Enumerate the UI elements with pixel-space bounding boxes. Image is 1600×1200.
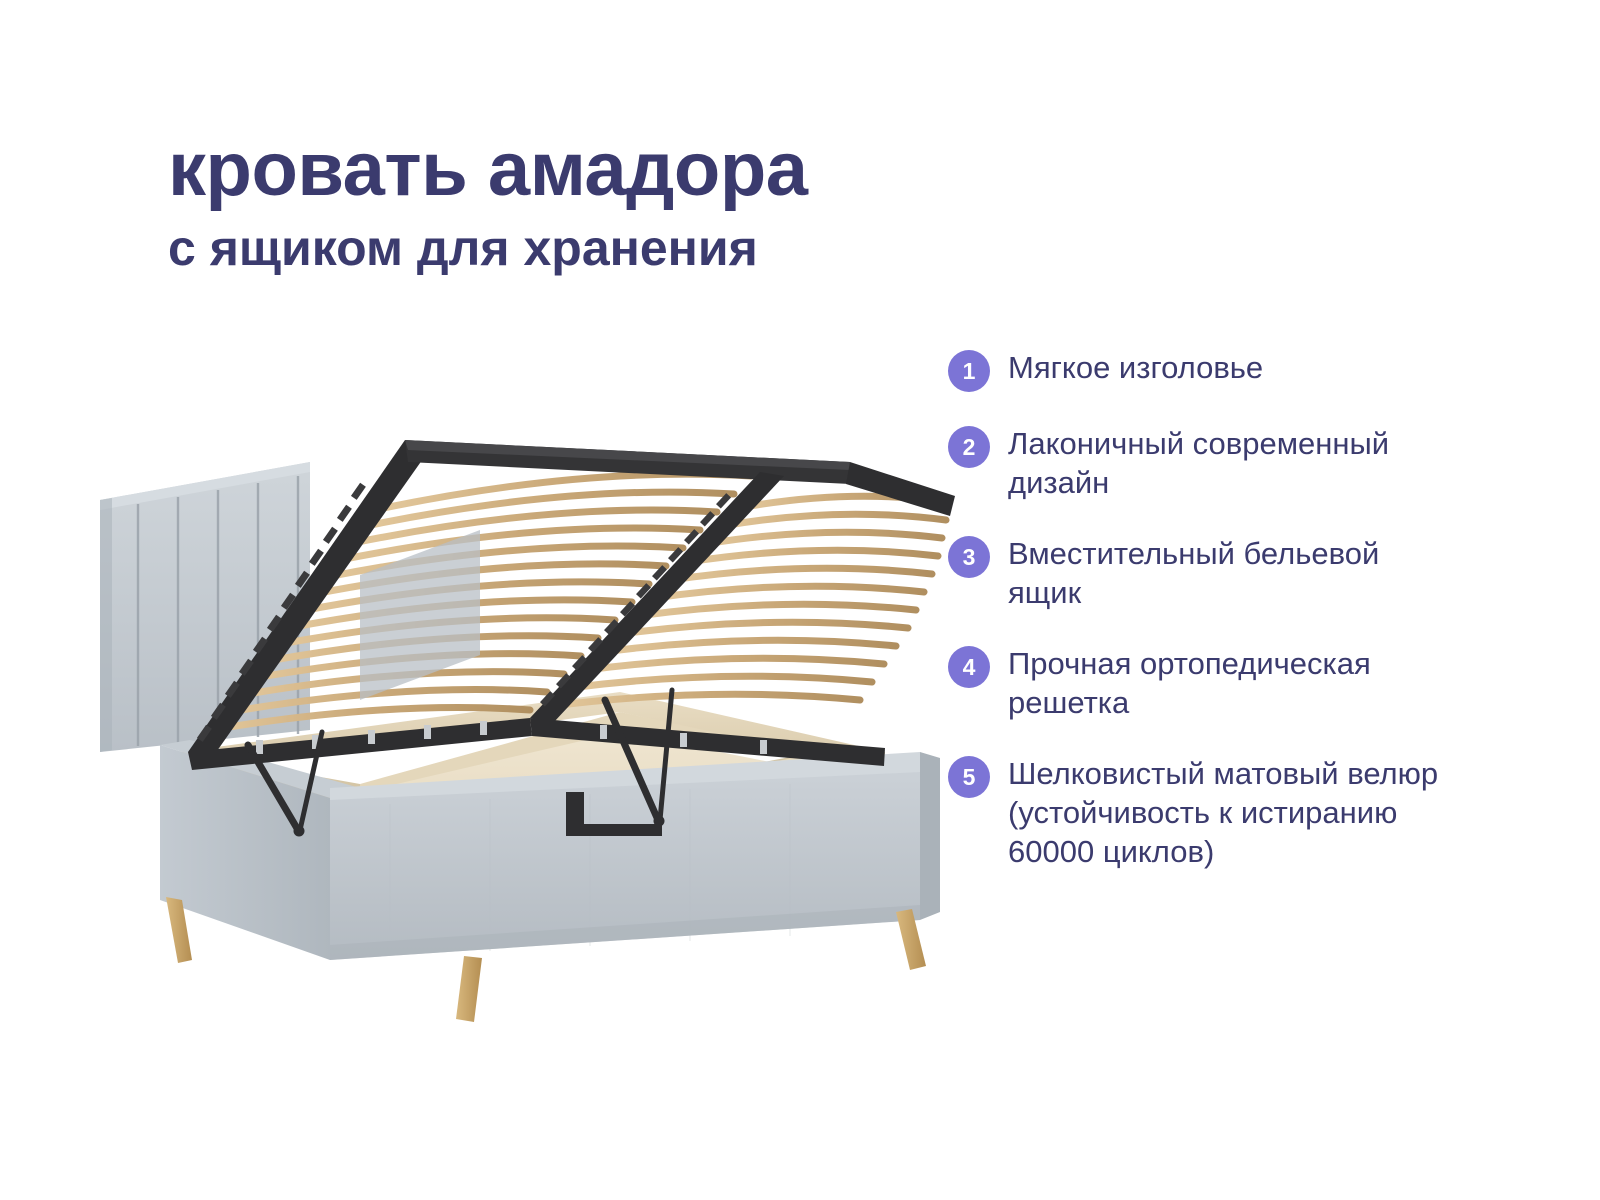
list-item: 5 Шелковистый матовый велюр (устойчивост…	[948, 754, 1468, 871]
list-item: 1 Мягкое изголовье	[948, 348, 1468, 392]
list-item: 4 Прочная ортопедическая решетка	[948, 644, 1468, 722]
feature-label: Шелковистый матовый велюр (устойчивость …	[1008, 754, 1460, 871]
leg-front-center	[456, 956, 482, 1022]
feature-number-badge: 1	[948, 350, 990, 392]
feature-label: Вместительный бельевой ящик	[1008, 534, 1460, 612]
feature-label: Прочная ортопедическая решетка	[1008, 644, 1460, 722]
feature-label: Лаконичный современный дизайн	[1008, 424, 1460, 502]
page-title: кровать амадора	[168, 132, 1168, 208]
list-item: 3 Вместительный бельевой ящик	[948, 534, 1468, 612]
page-subtitle: с ящиком для хранения	[168, 222, 1168, 275]
headboard	[100, 462, 310, 752]
feature-label: Мягкое изголовье	[1008, 348, 1263, 387]
header: кровать амадора с ящиком для хранения	[168, 132, 1168, 275]
list-item: 2 Лаконичный современный дизайн	[948, 424, 1468, 502]
feature-list: 1 Мягкое изголовье 2 Лаконичный современ…	[948, 348, 1468, 903]
frame-rail-right	[846, 462, 955, 516]
product-image	[60, 400, 960, 1080]
bed-illustration	[60, 400, 960, 1080]
